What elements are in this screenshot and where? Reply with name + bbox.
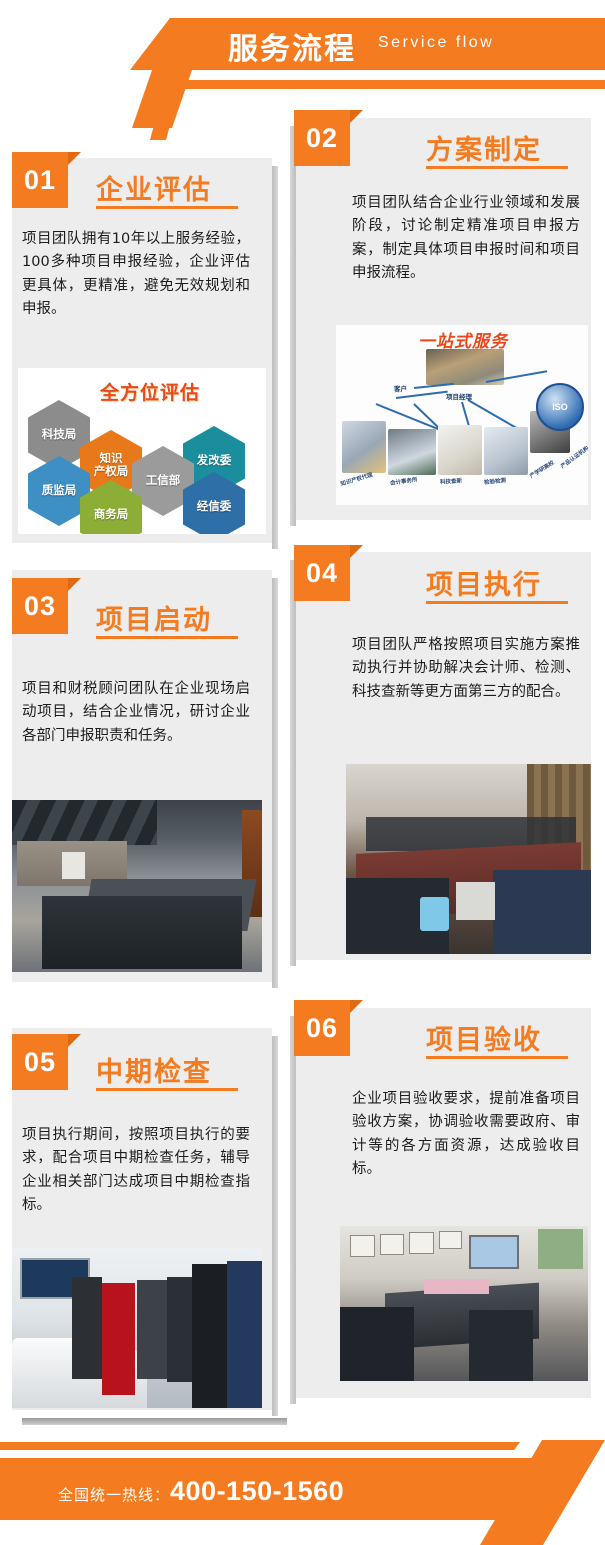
oss-client-label: 客户 [394,383,407,393]
hex-label: 工信部 [146,474,181,487]
card-01-number-label: 01 [24,165,56,196]
oss-node-label: 产学研高校 [528,458,556,479]
photo-showroom-visit [12,1248,262,1408]
card-04-number: 04 [294,545,350,601]
hotline-label: 全国统一热线： [58,1486,170,1504]
card-06-title-rule [426,1056,568,1059]
oss-node-label: 检验检测 [484,476,507,486]
card-edge-shadow [290,560,296,966]
card-04-title-rule [426,601,568,604]
card-edge-shadow [272,1036,278,1416]
card-05-number: 05 [12,1034,68,1090]
hex-label: 科技局 [42,428,77,441]
card-04-body: 项目团队严格按照项目实施方案推动执行并协助解决会计师、检测、科技查新等更方面第三… [352,634,580,704]
card-03-title-rule [96,636,238,639]
hex-label: 知识产权局 [94,452,129,478]
card-02-body: 项目团队结合企业行业领域和发展阶段，讨论制定精准项目申报方案，制定具体项目申报时… [352,192,580,286]
footer-stripe [0,1442,520,1450]
hexagon-assessment-graphic: 全方位评估 科技局 知识产权局 发改委 质监局 工信部 商务局 经信委 [18,368,266,534]
card-05-title: 中期检查 [96,1050,212,1089]
oss-node-photo [484,427,528,475]
oss-node-label: 会计事务所 [390,475,418,487]
header-stripe [150,80,605,89]
photo-conference-room [12,800,262,972]
page-title: 服务流程 [228,24,356,68]
hexagon-graphic-title: 全方位评估 [100,378,200,405]
card-04-title: 项目执行 [426,563,542,602]
card-03-number-label: 03 [24,591,56,622]
card-05-title-rule [96,1088,238,1091]
card-02-number: 02 [294,110,350,166]
card-edge-shadow [290,126,296,526]
hex-label: 发改委 [197,454,232,467]
hex-label: 商务局 [94,508,129,521]
card-02-number-label: 02 [306,123,338,154]
card-edge-shadow [290,1016,296,1404]
card-01-title: 企业评估 [96,168,212,207]
photo-acceptance-meeting [340,1226,588,1381]
card-edge-shadow [272,578,278,988]
card-06-number-label: 06 [306,1013,338,1044]
card-02-title: 方案制定 [426,128,542,167]
card-03-number: 03 [12,578,68,634]
header-band [130,18,605,70]
oss-node-label: 科技查新 [440,476,463,486]
photo-meeting-table [346,764,591,954]
card-04-number-label: 04 [306,558,338,589]
hex-label: 质监局 [42,484,77,497]
card-06-body: 企业项目验收要求，提前准备项目验收方案，协调验收需要政府、审计等的各方面资源，达… [352,1088,580,1182]
page-header: 服务流程 Service flow [0,0,605,108]
oss-node-photo [438,425,482,475]
page-footer: 全国统一热线：400-150-1560 [0,1420,605,1538]
page-subtitle: Service flow [378,34,494,52]
card-02-title-rule [426,166,568,169]
card-edge-shadow [272,166,278,549]
card-01-body: 项目团队拥有10年以上服务经验，100多种项目申报经验，企业评估更具体，更精准，… [22,228,250,322]
card-06-title: 项目验收 [426,1018,542,1057]
one-stop-service-graphic: 一站式服务 项目经理 客户 ISO 知识产权代理 会计事务所 科技查新 检验检测… [336,325,588,505]
card-03-title: 项目启动 [96,598,212,637]
iso-seal-icon: ISO [536,383,584,431]
card-03-body: 项目和财税顾问团队在企业现场启动项目，结合企业情况，研讨企业各部门申报职责和任务… [22,678,250,748]
hotline-number: 400-150-1560 [170,1476,344,1506]
oss-node-photo [388,429,436,475]
oss-node-photo [342,421,386,473]
card-01-number: 01 [12,152,68,208]
card-06-number: 06 [294,1000,350,1056]
iso-label: ISO [552,402,568,412]
hex-label: 经信委 [197,500,232,513]
card-01-title-rule [96,206,238,209]
hotline: 全国统一热线：400-150-1560 [58,1476,344,1507]
card-05-body: 项目执行期间，按照项目执行的要求，配合项目中期检查任务，辅导企业相关部门达成项目… [22,1124,250,1218]
card-05-number-label: 05 [24,1047,56,1078]
